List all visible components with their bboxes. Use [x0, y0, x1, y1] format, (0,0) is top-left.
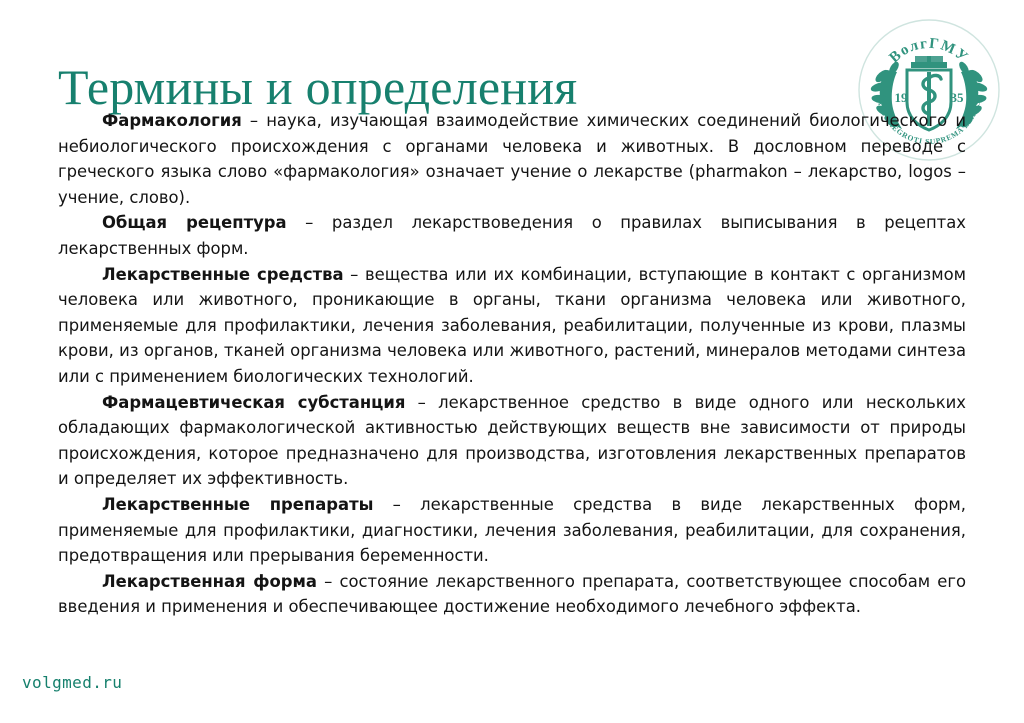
definition-paragraph: Лекарственные средства – вещества или их… — [58, 262, 966, 390]
definition-term: Лекарственная форма — [102, 572, 317, 591]
svg-text:ВолгГМУ: ВолгГМУ — [886, 36, 971, 66]
footer-site-url[interactable]: volgmed.ru — [22, 673, 122, 692]
definition-paragraph: Фармацевтическая субстанция – лекарствен… — [58, 390, 966, 492]
definition-paragraph: Лекарственные препараты – лекарственные … — [58, 492, 966, 569]
definition-term: Фармацевтическая субстанция — [102, 393, 405, 412]
definitions-body: Фармакология – наука, изучающая взаимоде… — [58, 108, 966, 620]
definition-term: Общая рецептура — [102, 213, 287, 232]
definition-paragraph: Фармакология – наука, изучающая взаимоде… — [58, 108, 966, 210]
slide-canvas: ВолгГМУ SALUS AEGROTI SUPREMA LEX EST — [0, 0, 1024, 723]
definition-term: Лекарственные препараты — [102, 495, 373, 514]
page-title: Термины и определения — [58, 60, 577, 115]
definition-term: Лекарственные средства — [102, 265, 344, 284]
svg-text:35: 35 — [951, 90, 965, 105]
svg-text:19: 19 — [895, 90, 909, 105]
definition-paragraph: Общая рецептура – раздел лекарствоведени… — [58, 210, 966, 261]
definition-paragraph: Лекарственная форма – состояние лекарств… — [58, 569, 966, 620]
